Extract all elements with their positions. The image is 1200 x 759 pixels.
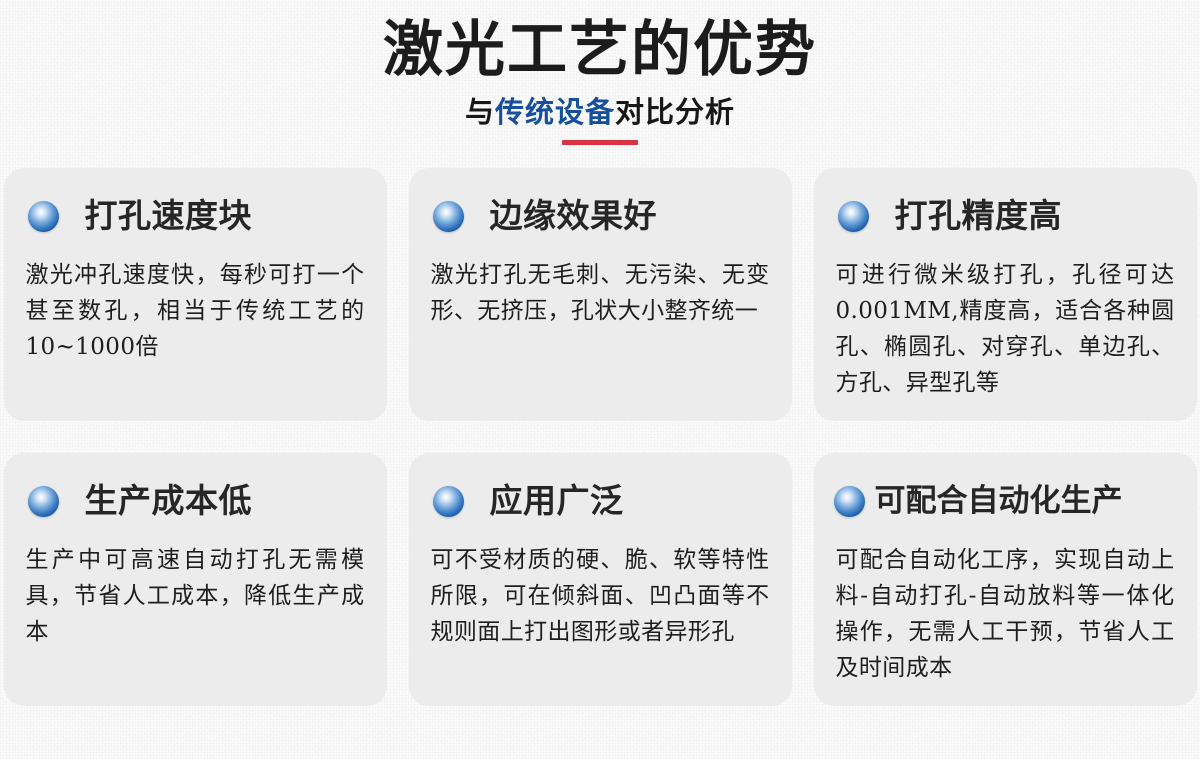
card-header: 可配合自动化生产 (832, 477, 1179, 525)
card-header: 应用广泛 (427, 477, 774, 525)
card-title: 打孔精度高 (895, 196, 1063, 236)
card-title: 可配合自动化生产 (875, 481, 1123, 521)
card-body-text: 可配合自动化工序，实现自动上料-自动打孔-自动放料等一体化操作，无需人工干预，节… (832, 542, 1179, 686)
card-header: 打孔速度块 (22, 192, 369, 240)
advantage-card: 可配合自动化生产 可配合自动化工序，实现自动上料-自动打孔-自动放料等一体化操作… (814, 453, 1197, 706)
card-title: 应用广泛 (490, 481, 624, 521)
blue-sphere-bullet-icon (433, 486, 464, 517)
card-body-text: 生产中可高速自动打孔无需模具，节省人工成本，降低生产成本 (22, 542, 369, 650)
blue-sphere-bullet-icon (834, 486, 865, 517)
page-subtitle: 与传统设备对比分析 (2, 94, 1198, 130)
page-title: 激光工艺的优势 (2, 14, 1198, 86)
card-title: 生产成本低 (85, 481, 253, 521)
subtitle-underline-rule (562, 140, 638, 145)
card-body-text: 激光打孔无毛刺、无污染、无变形、无挤压，孔状大小整齐统一 (427, 257, 774, 329)
blue-sphere-bullet-icon (433, 201, 464, 232)
card-title: 打孔速度块 (85, 196, 253, 236)
advantage-card: 打孔速度块 激光冲孔速度快，每秒可打一个甚至数孔，相当于传统工艺的10~1000… (4, 168, 387, 421)
advantage-card: 生产成本低 生产中可高速自动打孔无需模具，节省人工成本，降低生产成本 (4, 453, 387, 706)
advantage-card: 打孔精度高 可进行微米级打孔，孔径可达0.001MM,精度高，适合各种圆孔、椭圆… (814, 168, 1197, 421)
advantage-card: 边缘效果好 激光打孔无毛刺、无污染、无变形、无挤压，孔状大小整齐统一 (409, 168, 792, 421)
advantage-card: 应用广泛 可不受材质的硬、脆、软等特性所限，可在倾斜面、凹凸面等不规则面上打出图… (409, 453, 792, 706)
card-header: 生产成本低 (22, 477, 369, 525)
blue-sphere-bullet-icon (28, 486, 59, 517)
subtitle-prefix: 与 (465, 95, 495, 129)
subtitle-suffix: 对比分析 (615, 95, 735, 129)
card-body-text: 可进行微米级打孔，孔径可达0.001MM,精度高，适合各种圆孔、椭圆孔、对穿孔、… (832, 257, 1179, 401)
blue-sphere-bullet-icon (28, 201, 59, 232)
subtitle-accent: 传统设备 (495, 95, 615, 129)
card-header: 边缘效果好 (427, 192, 774, 240)
blue-sphere-bullet-icon (838, 201, 869, 232)
card-body-text: 激光冲孔速度快，每秒可打一个甚至数孔，相当于传统工艺的10~1000倍 (22, 257, 369, 365)
promo-page: 激光工艺的优势 与传统设备对比分析 打孔速度块 激光冲孔速度快，每秒可打一个甚至… (0, 0, 1200, 759)
card-header: 打孔精度高 (832, 192, 1179, 240)
subtitle-block: 与传统设备对比分析 (2, 94, 1198, 145)
advantage-card-grid: 打孔速度块 激光冲孔速度快，每秒可打一个甚至数孔，相当于传统工艺的10~1000… (2, 168, 1198, 706)
card-title: 边缘效果好 (490, 196, 658, 236)
page-header: 激光工艺的优势 与传统设备对比分析 (2, 0, 1198, 145)
card-body-text: 可不受材质的硬、脆、软等特性所限，可在倾斜面、凹凸面等不规则面上打出图形或者异形… (427, 542, 774, 650)
